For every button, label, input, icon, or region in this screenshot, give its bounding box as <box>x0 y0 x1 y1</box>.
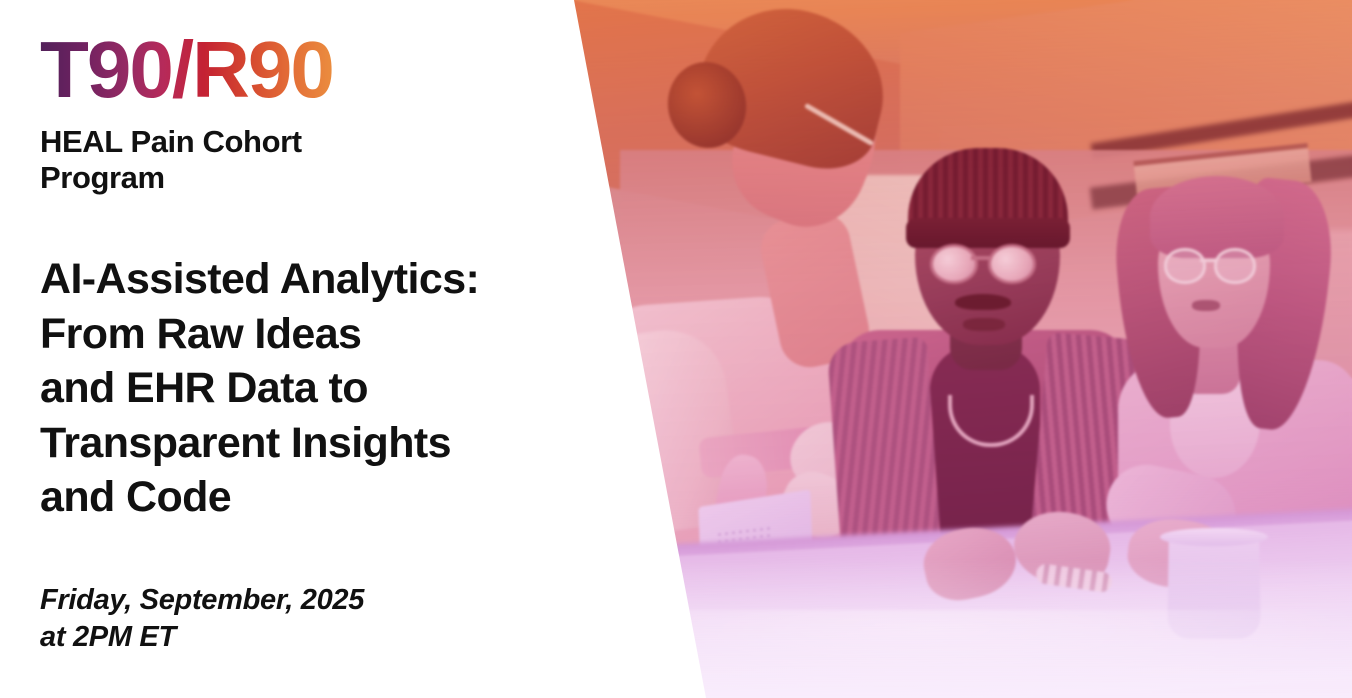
event-time: at 2PM ET <box>40 619 560 656</box>
person-center-eyeglass-bridge <box>971 256 991 260</box>
table-highlight <box>620 610 1352 698</box>
text-panel: T90/R90 HEAL Pain Cohort Program AI-Assi… <box>40 0 600 698</box>
webinar-promo-banner: T90/R90 HEAL Pain Cohort Program AI-Assi… <box>0 0 1352 698</box>
person-center-eyeglass-lens-left <box>930 244 978 284</box>
person-center-mustache <box>955 294 1011 310</box>
person-center-mouth <box>963 318 1005 331</box>
event-datetime: Friday, September, 2025 at 2PM ET <box>40 582 560 656</box>
headline-line-1: AI-Assisted Analytics: <box>40 252 600 307</box>
person-right-eyeglass-bridge <box>1200 259 1216 262</box>
headline-line-2: From Raw Ideas <box>40 307 600 362</box>
person-right-eyeglass-lens-left <box>1164 248 1206 284</box>
headline-line-4: Transparent Insights <box>40 416 600 471</box>
person-center-beanie-brim <box>906 218 1070 248</box>
cup-rim <box>1160 528 1268 546</box>
person-center-eyeglass-lens-right <box>988 244 1036 284</box>
program-subtitle-line-2: Program <box>40 160 460 196</box>
program-brand-title: T90/R90 <box>40 30 333 110</box>
headline-line-3: and EHR Data to <box>40 361 600 416</box>
headline-line-5: and Code <box>40 470 600 525</box>
event-date: Friday, September, 2025 <box>40 582 560 619</box>
person-right-hair-top <box>1150 176 1284 258</box>
person-right-eyeglass-lens-right <box>1214 248 1256 284</box>
program-subtitle: HEAL Pain Cohort Program <box>40 124 460 197</box>
webinar-headline: AI-Assisted Analytics: From Raw Ideas an… <box>40 252 600 525</box>
person-right-mouth <box>1192 300 1220 311</box>
program-subtitle-line-1: HEAL Pain Cohort <box>40 124 460 160</box>
